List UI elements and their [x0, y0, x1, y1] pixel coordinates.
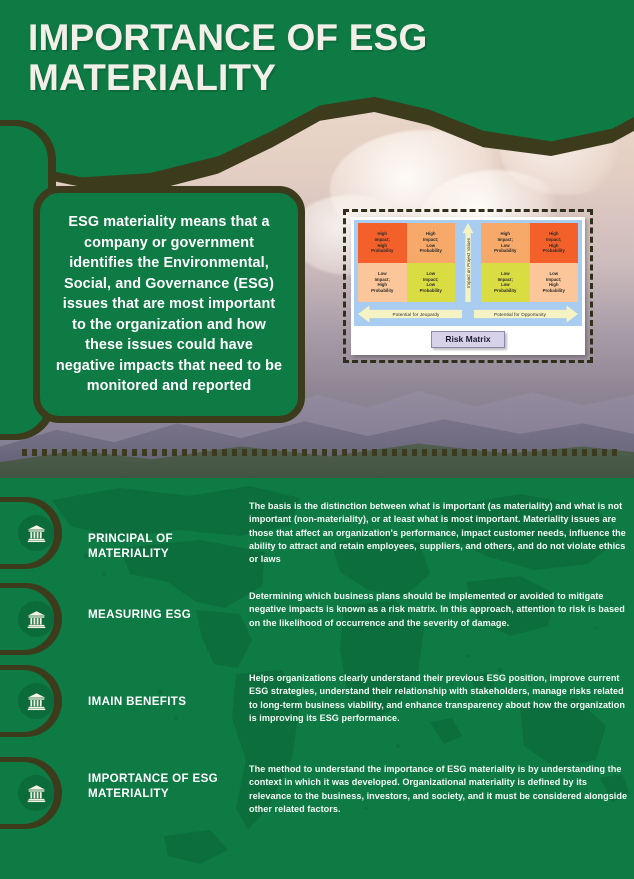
risk-matrix-cell: High Impact; High Probability: [530, 223, 579, 263]
left-arrow-label: Potential for Jeopardy: [393, 312, 440, 317]
risk-matrix-right-quadrant: High Impact; Low ProbabilityHigh Impact;…: [481, 223, 578, 302]
definition-text: ESG materiality means that a company or …: [54, 212, 284, 396]
risk-matrix-caption-row: Risk Matrix: [354, 326, 582, 352]
risk-matrix-cell: High Impact; Low Probability: [407, 223, 456, 263]
definition-callout-card: ESG materiality means that a company or …: [33, 186, 305, 423]
risk-matrix-card: High Impact; High ProbabilityHigh Impact…: [351, 217, 585, 355]
dotted-divider: [22, 449, 622, 456]
risk-matrix-plot: High Impact; High ProbabilityHigh Impact…: [354, 220, 582, 326]
bank-icon: [26, 609, 47, 630]
risk-matrix-cell: High Impact; High Probability: [358, 223, 407, 263]
y-axis-label: Impact on Project Values: [466, 238, 471, 288]
bank-icon: [26, 783, 47, 804]
risk-matrix-figure: High Impact; High ProbabilityHigh Impact…: [343, 209, 593, 363]
section-body-3: Helps organizations clearly understand t…: [249, 672, 629, 725]
risk-matrix-cell: Low Impact; High Probability: [530, 263, 579, 303]
section-icon-4: [18, 775, 54, 811]
page-title: IMPORTANCE OF ESG MATERIALITY: [28, 18, 458, 98]
section-body-2: Determining which business plans should …: [249, 590, 629, 630]
section-title-3: IMAIN BENEFITS: [88, 694, 248, 709]
risk-matrix-x-axis: Potential for Jeopardy Potential for Opp…: [354, 302, 582, 326]
section-body-4: The method to understand the importance …: [249, 763, 629, 816]
opportunity-arrow-icon: Potential for Opportunity: [474, 306, 578, 323]
section-icon-1: [18, 515, 54, 551]
bank-icon: [26, 523, 47, 544]
jeopardy-arrow-icon: Potential for Jeopardy: [358, 306, 462, 323]
risk-matrix-y-axis: Impact on Project Values: [455, 223, 481, 302]
bank-icon: [26, 691, 47, 712]
risk-matrix-cell: High Impact; Low Probability: [481, 223, 530, 263]
section-title-4: IMPORTANCE OF ESG MATERIALITY: [88, 771, 248, 802]
risk-matrix-left-quadrant: High Impact; High ProbabilityHigh Impact…: [358, 223, 455, 302]
risk-matrix-cell: Low Impact; Low Probability: [407, 263, 456, 303]
section-title-1: PRINCIPAL OF MATERIALITY: [88, 531, 248, 562]
section-title-2: MEASURING ESG: [88, 607, 248, 622]
section-icon-2: [18, 601, 54, 637]
risk-matrix-caption: Risk Matrix: [431, 331, 504, 348]
section-body-1: The basis is the distinction between wha…: [249, 500, 629, 567]
risk-matrix-cell: Low Impact; High Probability: [358, 263, 407, 303]
infographic-poster: IMPORTANCE OF ESG MATERIALITY ESG materi…: [0, 0, 634, 879]
risk-matrix-quadrants: High Impact; High ProbabilityHigh Impact…: [354, 220, 582, 302]
risk-matrix-cell: Low Impact; Low Probability: [481, 263, 530, 303]
section-icon-3: [18, 683, 54, 719]
right-arrow-label: Potential for Opportunity: [494, 312, 546, 317]
